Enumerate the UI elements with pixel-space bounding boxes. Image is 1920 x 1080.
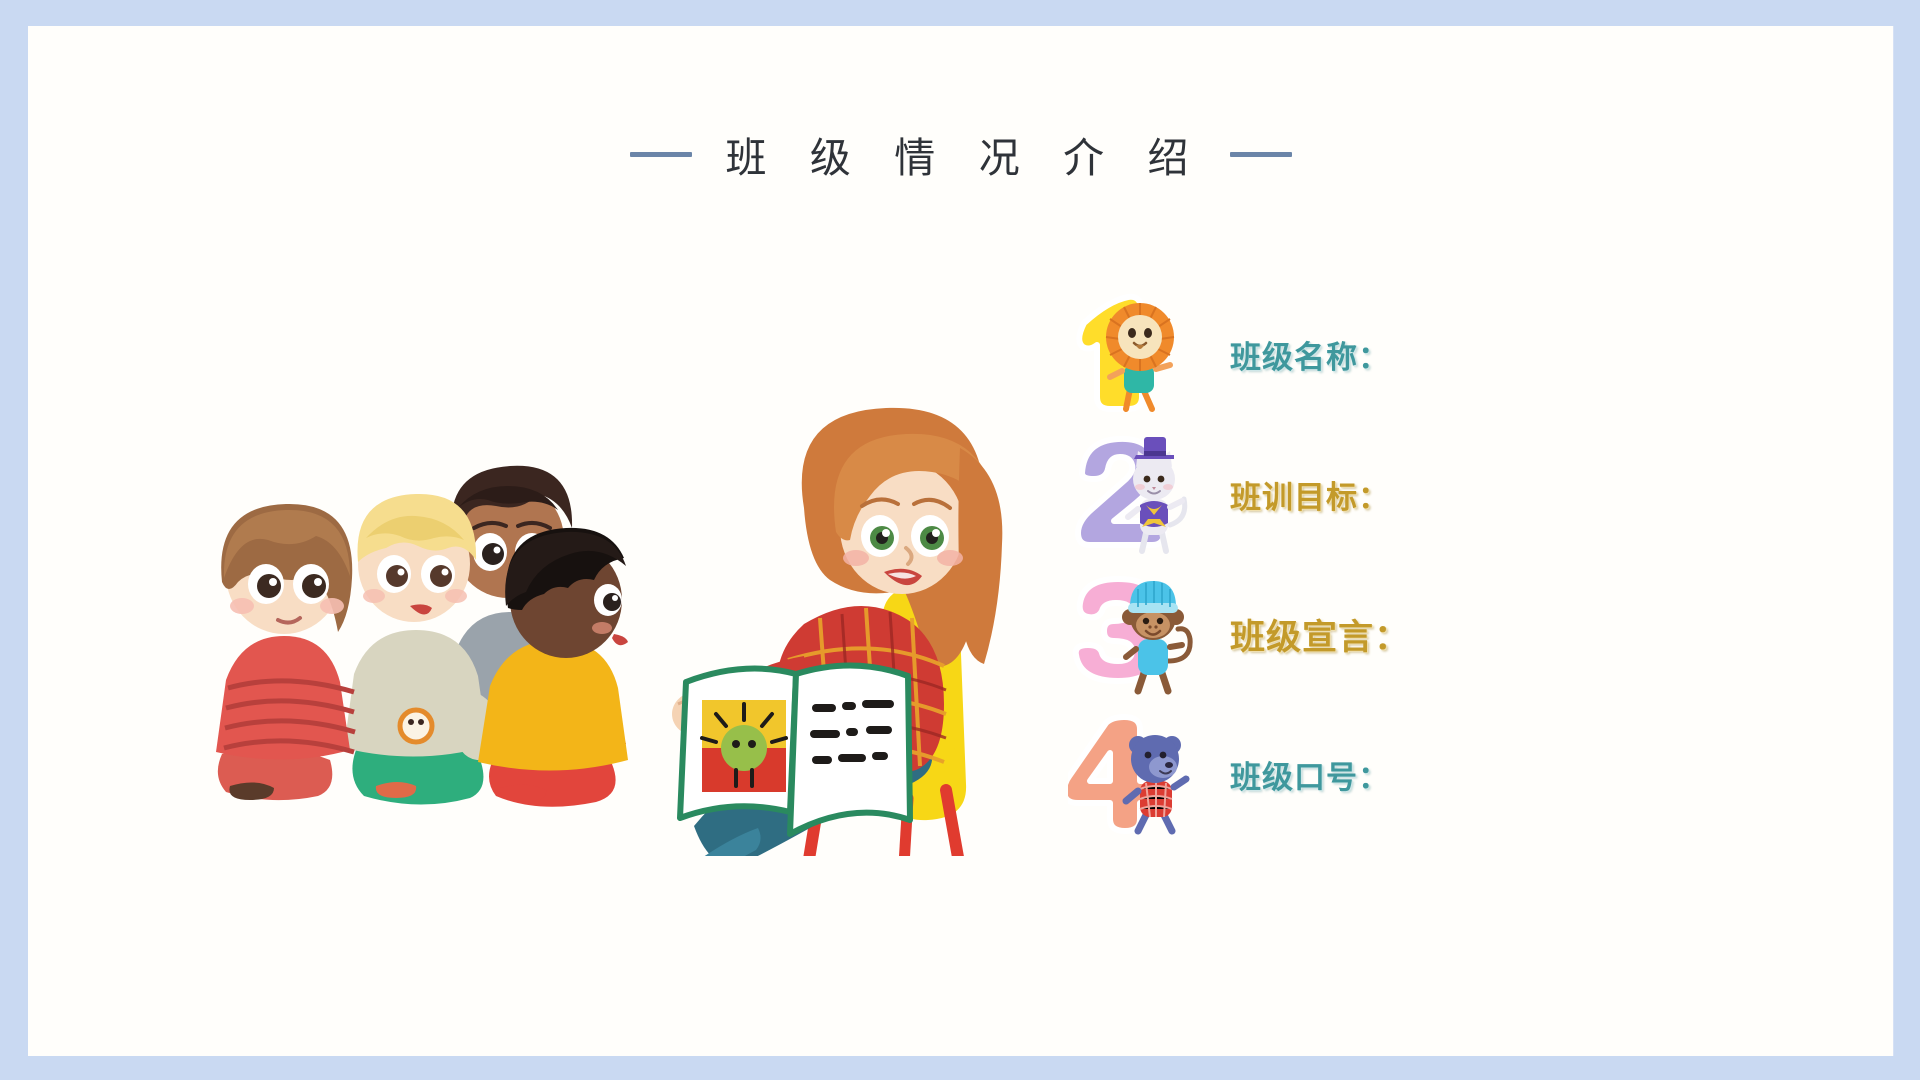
title-dash-right-icon (1230, 152, 1292, 157)
teacher-reading-to-children-illustration (208, 356, 1038, 856)
list-item[interactable]: 班训目标： (1068, 424, 1588, 564)
list-item-label: 班级名称： (1230, 332, 1390, 377)
page-title-text: 班 级 情 况 介 绍 (718, 124, 1205, 184)
title-dash-left-icon (630, 152, 692, 157)
list-item-label: 班级宣言： (1230, 609, 1410, 660)
list-item[interactable]: 班级宣言： (1068, 564, 1588, 704)
badge-number-4 (1068, 709, 1218, 839)
page-title: 班 级 情 况 介 绍 (28, 124, 1894, 184)
list-item[interactable]: 班级口号： (1068, 704, 1588, 844)
slide-panel: 班 级 情 况 介 绍 (28, 26, 1894, 1056)
badge-number-2 (1068, 429, 1218, 559)
picture-book (680, 665, 910, 834)
class-info-list: 班级名称： (1068, 284, 1588, 844)
slide-root: 班 级 情 况 介 绍 (0, 0, 1920, 1080)
badge-number-3 (1068, 569, 1218, 699)
list-item-label: 班训目标： (1230, 472, 1390, 517)
figure-girl-brown-bob-hair (216, 504, 355, 800)
list-item[interactable]: 班级名称： (1068, 284, 1588, 424)
list-item-label: 班级口号： (1230, 752, 1390, 797)
badge-number-1 (1068, 289, 1218, 419)
